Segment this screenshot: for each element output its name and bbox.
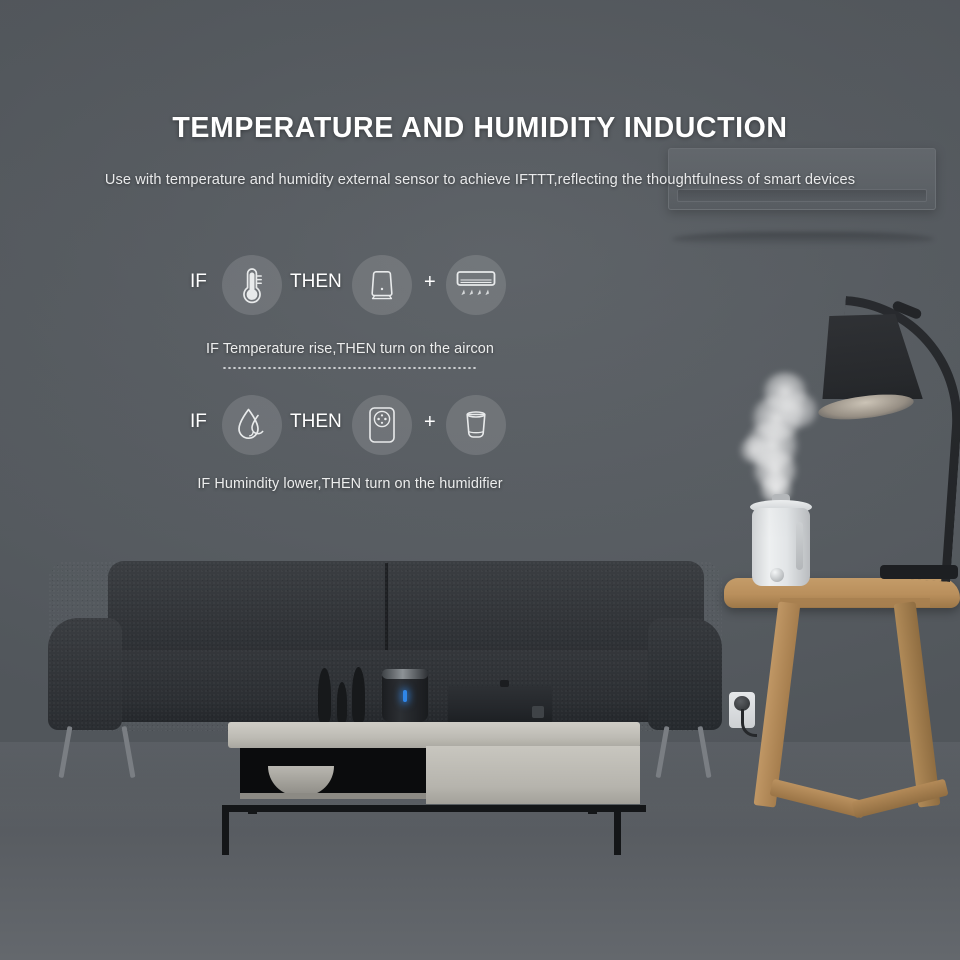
product-marketing-image: TEMPERATURE AND HUMIDITY INDUCTION Use w… (0, 0, 960, 960)
then-label: THEN (290, 271, 342, 293)
plus-label: + (424, 271, 436, 294)
smart-hub-icon (352, 255, 412, 315)
marketing-text-overlay: TEMPERATURE AND HUMIDITY INDUCTION Use w… (0, 0, 960, 960)
automation-rule-row-temperature: IF THEN + (150, 249, 570, 325)
automation-rule-row-humidity: IF THEN + (150, 389, 570, 465)
rule-caption-humidity: IF Humindity lower,THEN turn on the humi… (0, 476, 700, 492)
if-label: IF (190, 271, 207, 293)
water-drop-icon (222, 395, 282, 455)
humidifier-icon (446, 395, 506, 455)
section-divider (222, 367, 478, 369)
page-subtitle: Use with temperature and humidity extern… (0, 172, 960, 188)
thermometer-icon (222, 255, 282, 315)
rule-caption-temperature: IF Temperature rise,THEN turn on the air… (0, 341, 700, 357)
plus-label: + (424, 411, 436, 434)
page-title: TEMPERATURE AND HUMIDITY INDUCTION (0, 112, 960, 145)
if-label: IF (190, 411, 207, 433)
then-label: THEN (290, 411, 342, 433)
smart-plug-icon (352, 395, 412, 455)
air-conditioner-icon (446, 255, 506, 315)
